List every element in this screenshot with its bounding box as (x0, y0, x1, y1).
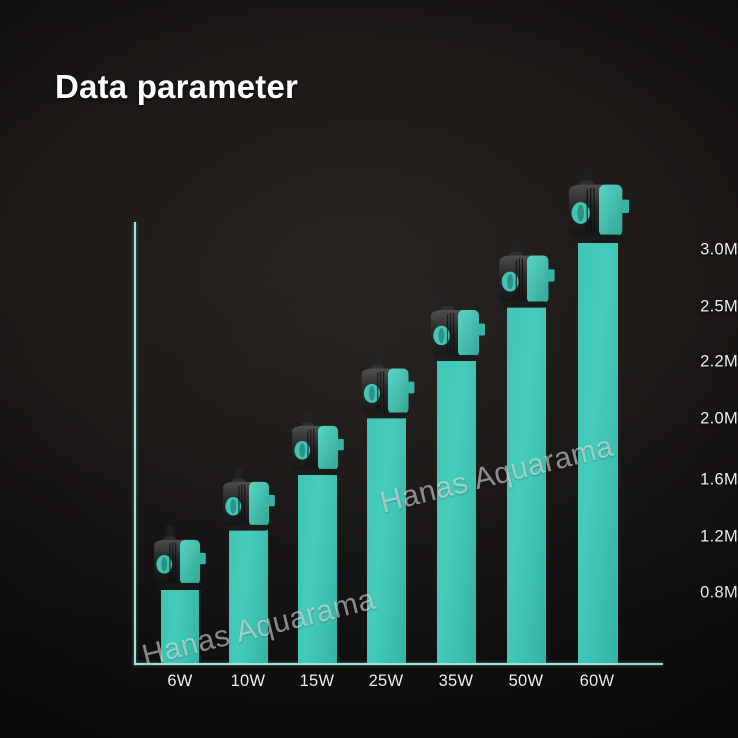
water-pump-icon (549, 165, 649, 251)
x-tick-label: 15W (300, 672, 335, 691)
y-tick-label: 2.2M (612, 353, 738, 372)
x-tick-label: 10W (231, 672, 266, 691)
y-tick-label: 2.5M (612, 298, 738, 317)
bar-15w[interactable] (298, 475, 337, 663)
x-axis-line (134, 663, 663, 665)
bar-25w[interactable] (367, 417, 406, 663)
y-tick-label: 1.6M (612, 471, 738, 490)
bar-35w[interactable] (437, 357, 476, 663)
x-tick-label: 25W (369, 672, 404, 691)
x-tick-label: 50W (509, 672, 544, 691)
y-tick-label: 0.8M (612, 584, 738, 603)
y-axis-line (134, 222, 136, 665)
x-tick-label: 60W (580, 672, 615, 691)
y-tick-label: 2.0M (612, 410, 738, 429)
x-tick-label: 35W (439, 672, 474, 691)
bar-10w[interactable] (229, 530, 268, 663)
bar-chart: 3.0M 2.5M 2.2M 2.0M 1.6M 1.2M 0.8M (0, 0, 738, 738)
y-tick-label: 1.2M (612, 528, 738, 547)
bar-50w[interactable] (507, 303, 546, 663)
bar-6w[interactable] (161, 590, 199, 663)
chart-canvas: Data parameter 3.0M 2.5M 2.2M 2.0M 1.6M … (0, 0, 738, 738)
bar-60w[interactable] (578, 243, 618, 663)
x-tick-label: 6W (167, 672, 192, 691)
